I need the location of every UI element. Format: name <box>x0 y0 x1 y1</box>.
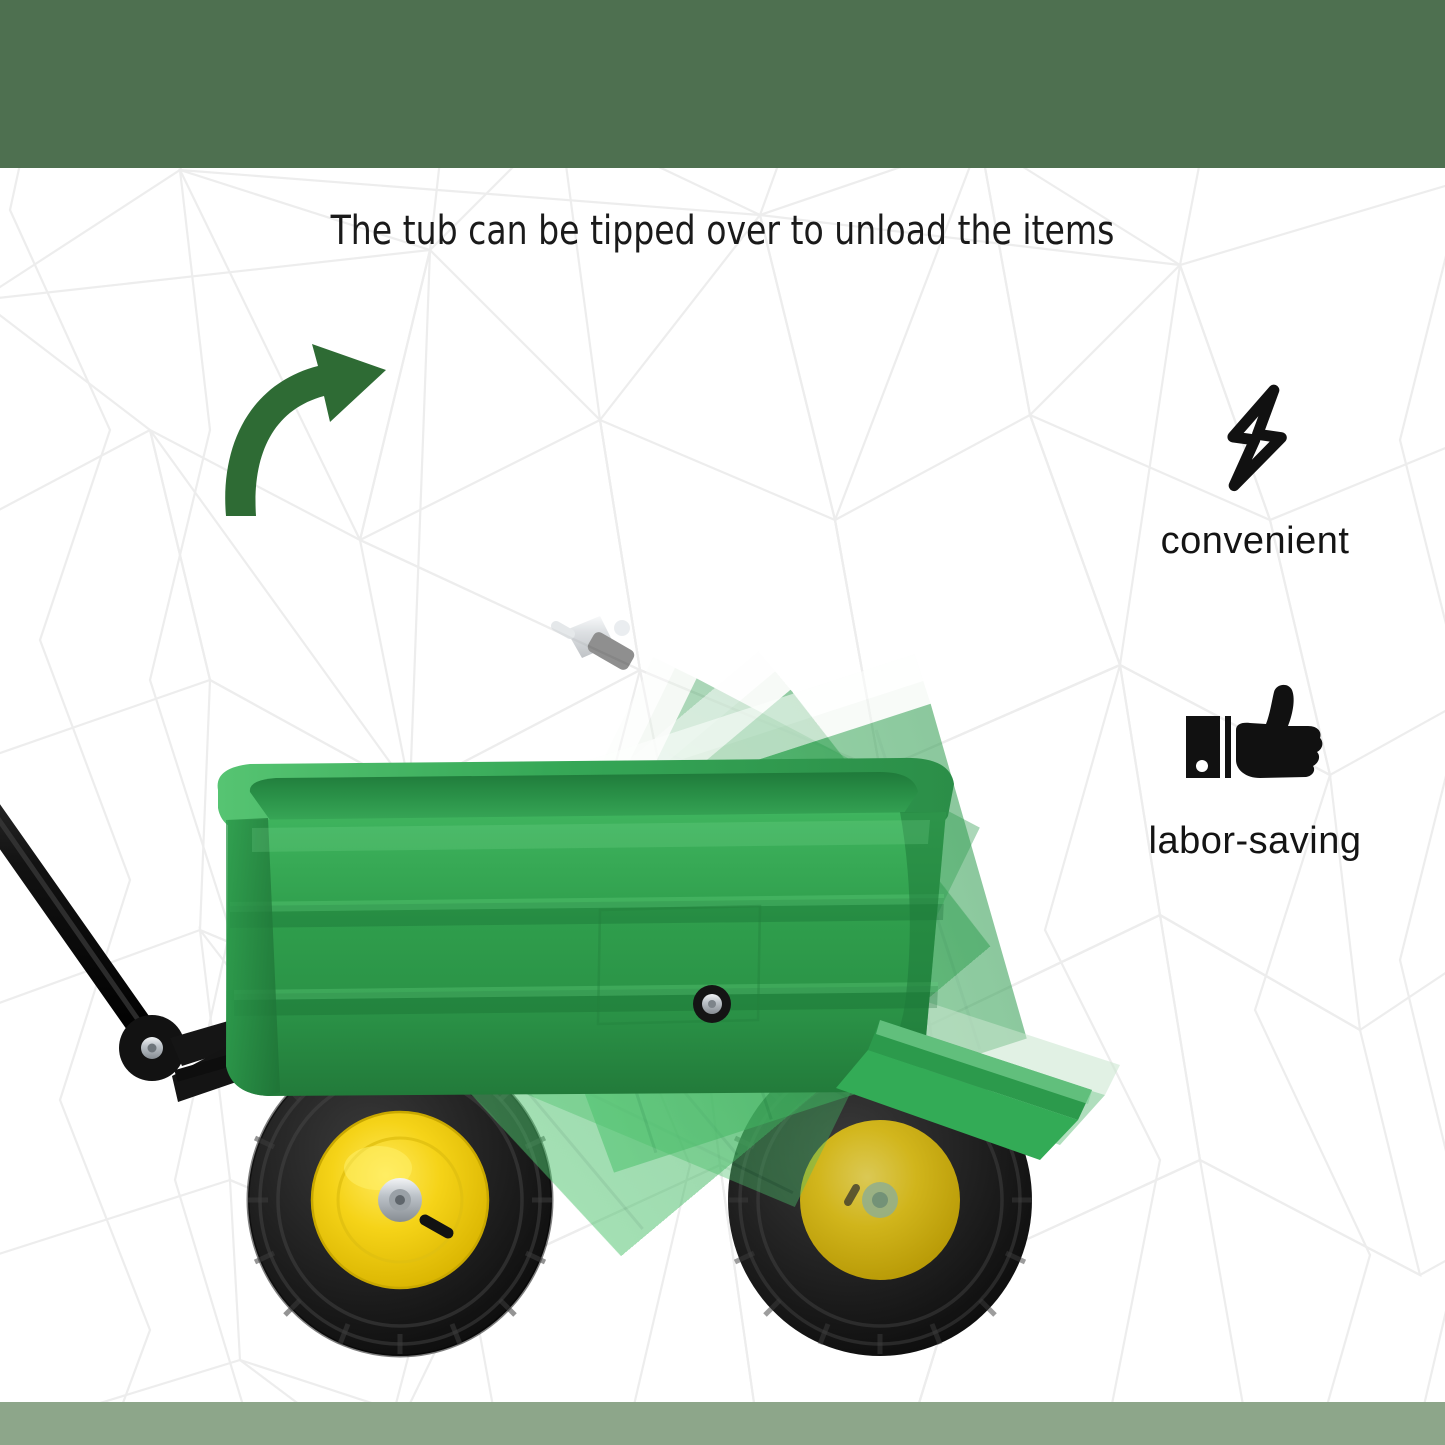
tub <box>218 758 954 1096</box>
subtitle-caption: The tub can be tipped over to unload the… <box>58 208 1387 254</box>
product-illustration <box>0 160 1160 1410</box>
thumbs-up-icon <box>1180 678 1330 798</box>
feature-label: labor-saving <box>1105 820 1405 863</box>
feature-convenient: convenient <box>1105 378 1405 563</box>
lightning-bolt-icon <box>1195 378 1315 498</box>
infographic-page: TIPPING MECHANISM The tub can be tipped … <box>0 0 1445 1445</box>
tipping-direction-arrow <box>190 330 420 520</box>
latch-hardware <box>556 616 636 672</box>
footer-band <box>0 1402 1445 1445</box>
feature-label: convenient <box>1105 520 1405 563</box>
tow-handle <box>0 764 185 1081</box>
header-band <box>0 0 1445 168</box>
feature-labor-saving: labor-saving <box>1105 678 1405 863</box>
tipping-pivot-bolt <box>693 985 731 1023</box>
